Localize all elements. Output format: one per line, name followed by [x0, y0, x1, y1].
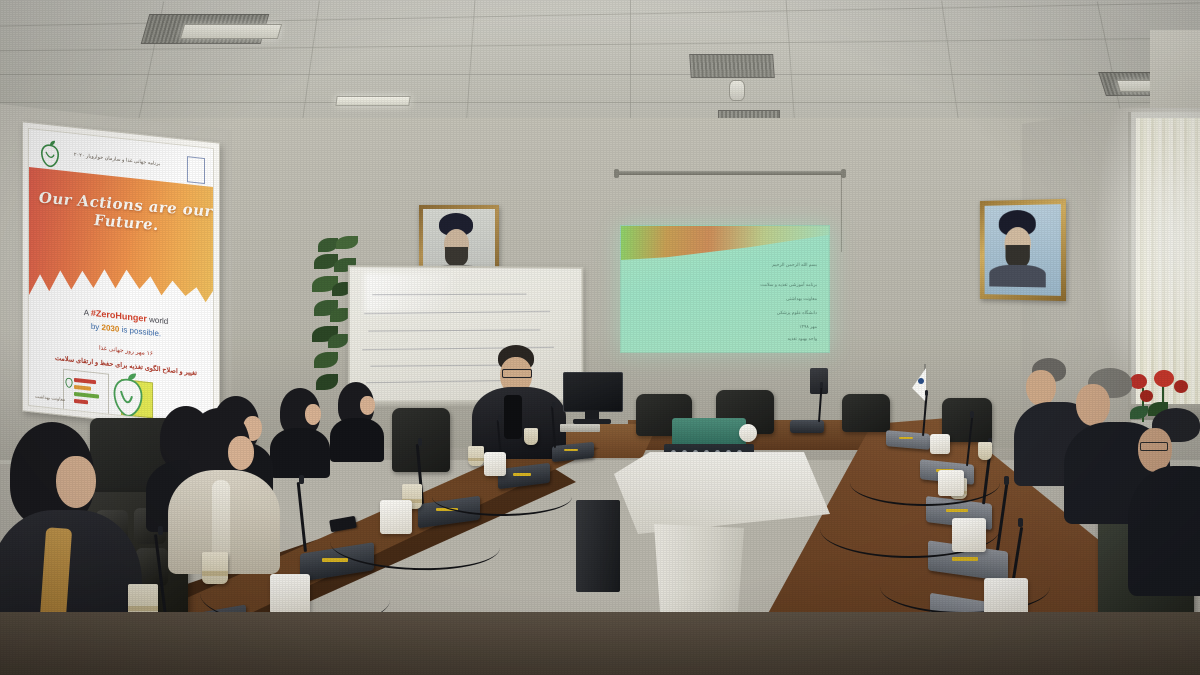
collar: [504, 395, 522, 439]
nutrient-bar-chart: [63, 369, 109, 416]
presenter-glasses: [502, 369, 532, 378]
attendee-left-6: [330, 382, 382, 452]
subline2-prefix: by: [91, 322, 102, 332]
slide-line-2: برنامه آموزشی تغذیه و سلامت: [667, 282, 817, 289]
presenter: [476, 345, 562, 453]
tissue-box[interactable]: [952, 518, 986, 552]
pc-tower: [576, 500, 620, 592]
window-upper-pane: [1150, 30, 1200, 108]
tissue-box[interactable]: [739, 424, 757, 442]
secondary-logo: [187, 156, 205, 184]
ceiling-light: [180, 24, 282, 39]
tissue-box[interactable]: [938, 470, 964, 496]
microphone-unit[interactable]: [790, 420, 824, 433]
attendee-left-5: [272, 388, 328, 468]
attendee-glasses: [1140, 442, 1168, 451]
computer-monitor[interactable]: [563, 372, 623, 412]
zero-hunger-banner: برنامه جهانی غذا و سازمان خواروبار ۲۰۲۰ …: [22, 121, 220, 433]
slide-line-5: مهر ۱۳۹۸: [667, 324, 817, 331]
target-year: 2030: [102, 323, 120, 334]
portrait-image: [985, 204, 1061, 296]
smoke-detector: [729, 80, 745, 101]
subline2-suffix: is possible.: [119, 325, 161, 339]
screen-pull-cord: [841, 174, 842, 252]
paper-cup[interactable]: [524, 428, 538, 445]
microphone-unit[interactable]: [552, 444, 594, 460]
framed-portrait-right: [980, 199, 1066, 301]
banner-inner: برنامه جهانی غذا و سازمان خواروبار ۲۰۲۰ …: [28, 128, 214, 426]
paper-cup[interactable]: [202, 552, 228, 584]
desk-speaker: [810, 368, 828, 394]
whiteboard-glare: [364, 273, 453, 313]
tissue-box[interactable]: [930, 434, 950, 454]
zerohunger-hashtag: #ZeroHunger: [91, 308, 147, 324]
white-center-table: [614, 452, 830, 534]
projection-screen-rod: [617, 171, 843, 175]
slide-line-3: معاونت بهداشتی: [667, 296, 817, 303]
apple-outline-icon: [107, 369, 149, 420]
microphone-cable: [850, 460, 1000, 506]
microphone-cable: [432, 478, 572, 516]
slide-line-4: دانشگاه علوم پزشکی: [667, 310, 817, 317]
projection-screen: بسم الله الرحمن الرحیم برنامه آموزشی تغذ…: [620, 225, 830, 353]
tissue-box[interactable]: [270, 574, 310, 614]
attendee-right-3: [1138, 408, 1200, 588]
slide-wave-graphic: [621, 226, 829, 260]
paper-cup[interactable]: [468, 446, 484, 466]
attendee-left-2: [176, 408, 272, 558]
tissue-box[interactable]: [380, 500, 412, 534]
floor: [0, 612, 1200, 675]
keyboard[interactable]: [560, 424, 600, 432]
conference-room-photo: برنامه جهانی غذا و سازمان خواروبار ۲۰۲۰ …: [0, 0, 1200, 675]
subline1-prefix: A: [84, 308, 91, 318]
tissue-box[interactable]: [484, 452, 506, 476]
ceiling-air-vent: [689, 54, 775, 78]
subline1-suffix: world: [147, 315, 168, 326]
paper-cup[interactable]: [978, 442, 992, 460]
slide-line-1: بسم الله الرحمن الرحیم: [697, 262, 817, 269]
microphone-unit[interactable]: [886, 432, 930, 448]
ceiling-light: [335, 96, 410, 106]
chair[interactable]: [842, 394, 890, 432]
slide-line-6: واحد بهبود تغذیه: [667, 336, 817, 343]
